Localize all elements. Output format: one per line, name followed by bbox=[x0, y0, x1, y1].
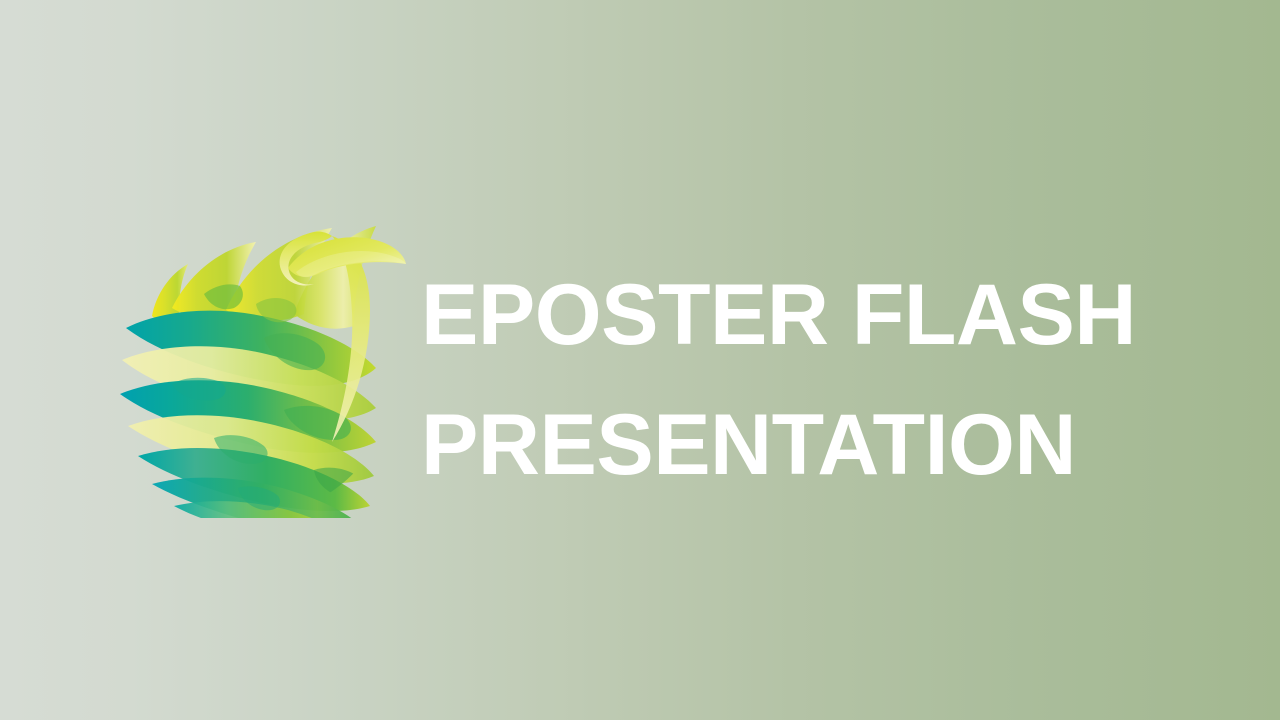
title-line-1: EPOSTER FLASH bbox=[421, 250, 1221, 380]
title-slide: EPOSTER FLASH PRESENTATION bbox=[0, 0, 1280, 720]
globe-ribbon-leaf-logo bbox=[118, 198, 418, 518]
title-line-2: PRESENTATION bbox=[421, 380, 1221, 510]
page-title: EPOSTER FLASH PRESENTATION bbox=[421, 250, 1221, 510]
